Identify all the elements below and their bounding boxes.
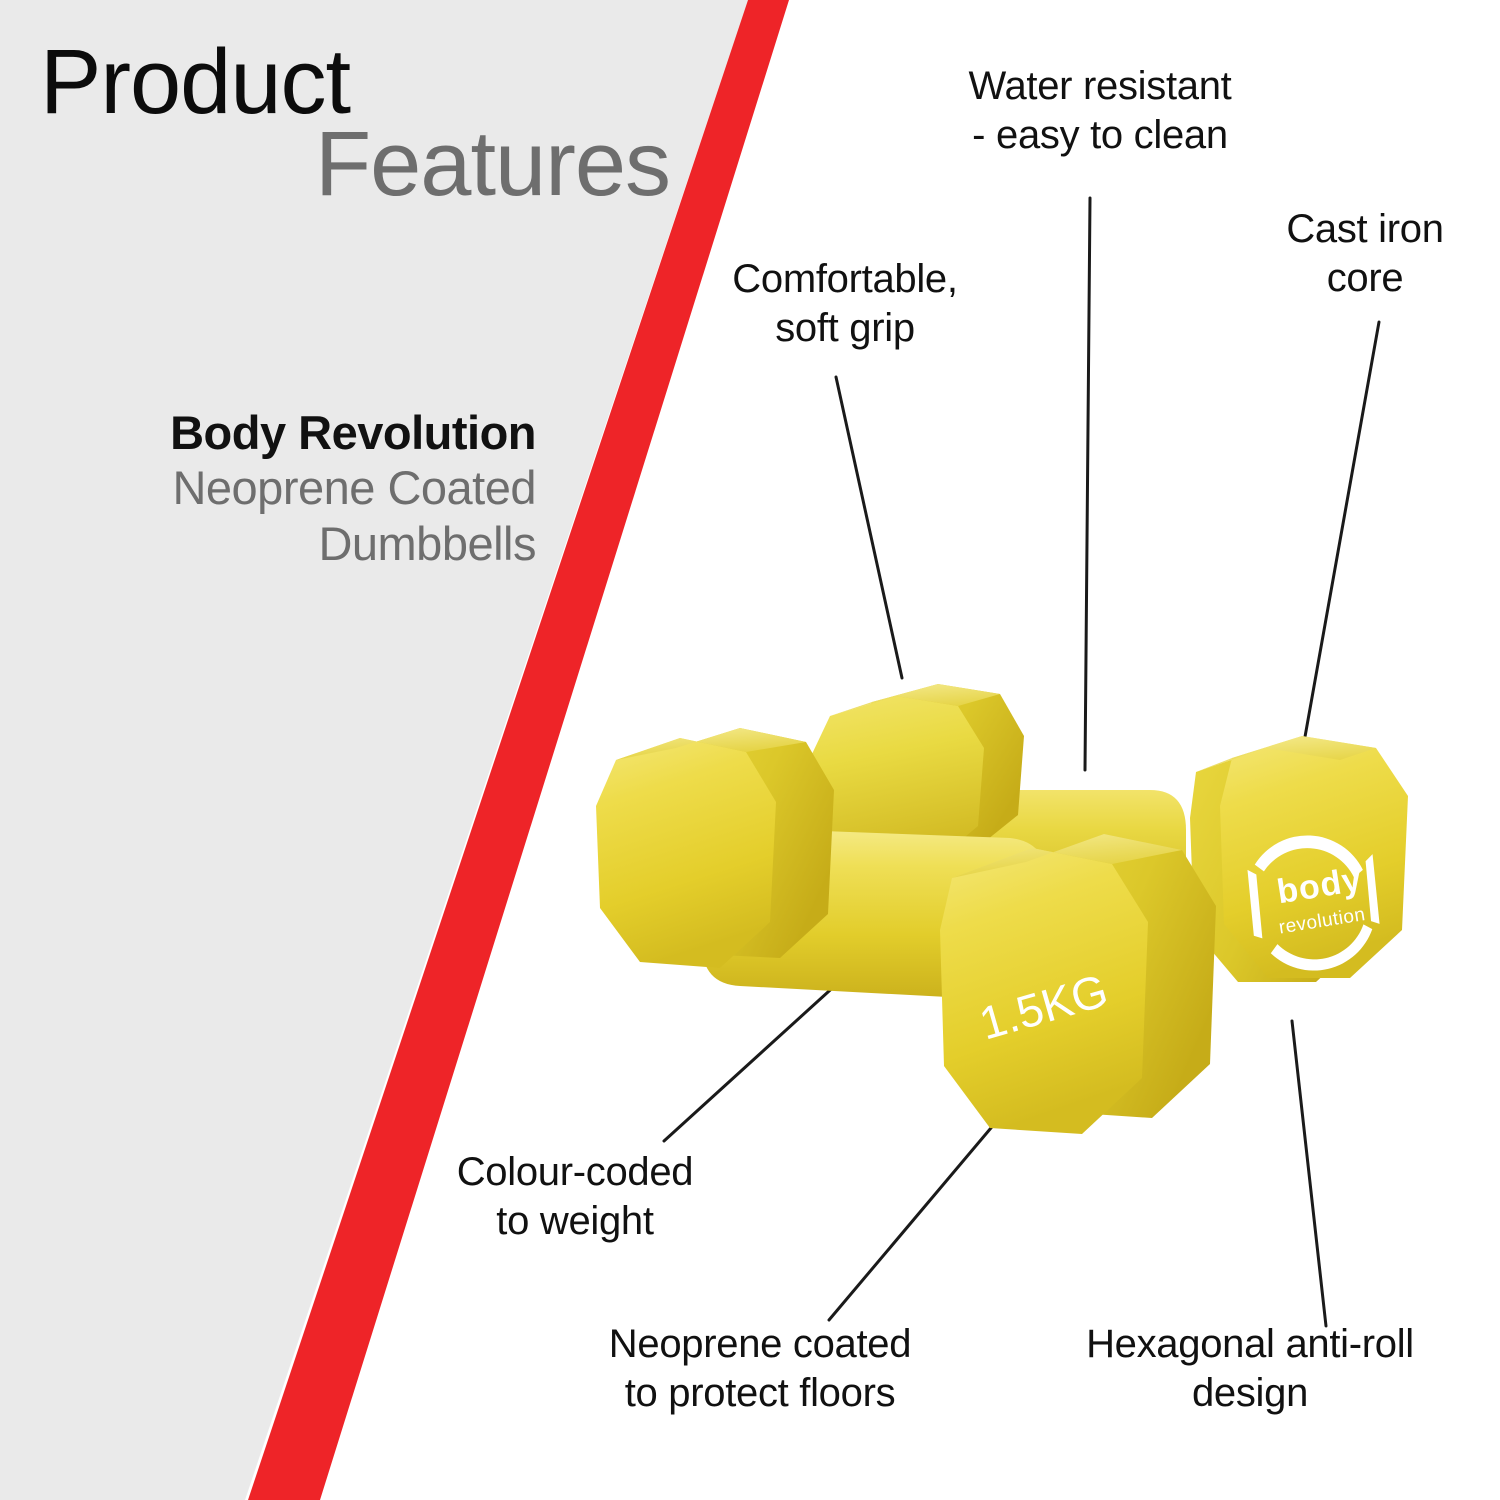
product-features-infographic: Product Features Body Revolution Neopren… (0, 0, 1500, 1500)
feature-label-neoprene-coated: Neoprene coated to protect floors (540, 1320, 980, 1418)
feature-label-hexagonal: Hexagonal anti-roll design (1030, 1320, 1470, 1418)
feature-label-colour-coded: Colour-coded to weight (410, 1148, 740, 1246)
feature-label-comfortable-grip: Comfortable, soft grip (680, 255, 1010, 353)
feature-label-cast-iron-core: Cast iron core (1230, 205, 1500, 303)
rear-dumbbell-right-cap: body revolution (1190, 736, 1408, 982)
front-dumbbell-left-cap (596, 728, 834, 968)
front-dumbbell-right-cap: 1.5KG (940, 834, 1216, 1134)
feature-label-water-resistant: Water resistant - easy to clean (880, 62, 1320, 160)
